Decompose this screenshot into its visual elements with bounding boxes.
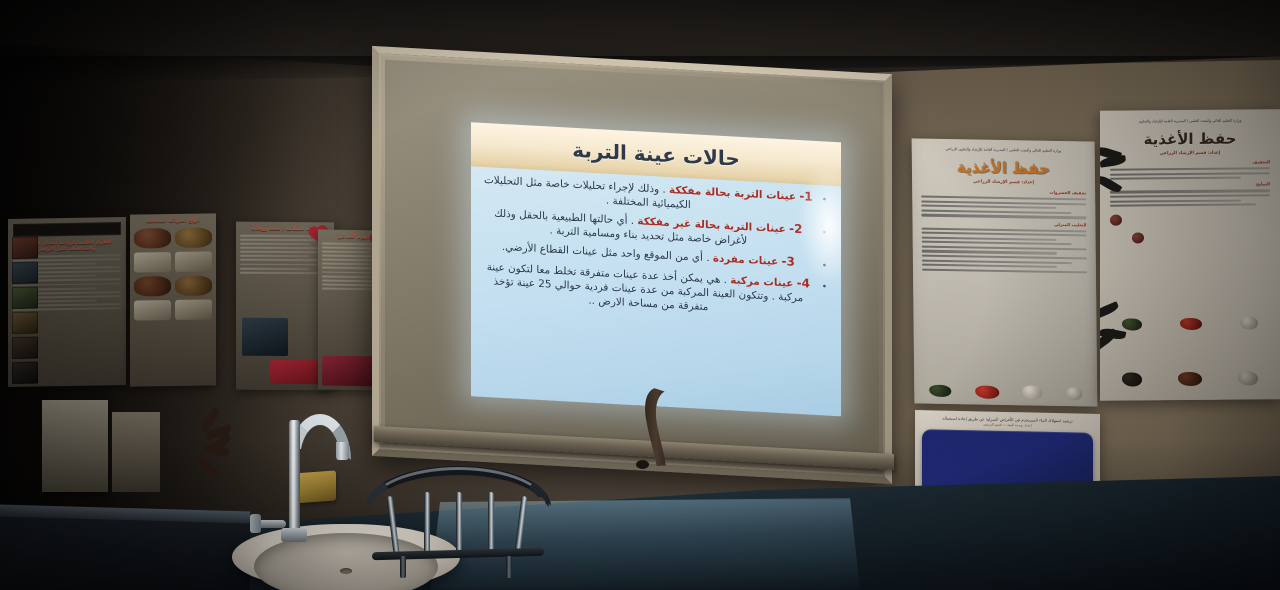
poster-header-band: [13, 222, 121, 237]
poster-food-preservation-2: وزارة التعليم العالي والبحث العلمي / الم…: [1100, 109, 1280, 401]
bullet-number: 3-: [782, 254, 795, 269]
bullet-number: 2-: [789, 222, 802, 237]
poster-thumbnail-column: [12, 237, 38, 387]
poster-section-heading: التعليب المنزلي: [921, 219, 1086, 227]
sink-drain: [340, 568, 352, 574]
poster-body-lines: [1110, 190, 1270, 207]
poster-food-preservation-1: وزارة التعليم العالي والبحث العلمي / الم…: [912, 138, 1098, 406]
olive-berry-icon: [1132, 232, 1144, 243]
faucet-neck[interactable]: [289, 420, 300, 540]
poster-title: أنواع الفواكه المجففة: [134, 217, 212, 224]
poster-body-lines: [921, 196, 1086, 219]
poster-vegetable-photos: [920, 384, 1091, 401]
slide-content: حالات عينة التربة • 1- عينات التربة بحال…: [471, 122, 841, 416]
metal-chair[interactable]: [366, 466, 551, 574]
bullet-highlight: عينات مفردة: [713, 253, 778, 269]
poster-vegetable-photos: [1106, 371, 1274, 386]
bullet-number: 4-: [797, 276, 810, 291]
chair-spindle: [456, 492, 462, 554]
potted-plant: [196, 424, 254, 494]
shelf-box: [42, 400, 108, 492]
poster-vegetable-photos: [1106, 316, 1274, 330]
faucet-valve-knob[interactable]: [250, 514, 261, 533]
shelf-box: [112, 412, 160, 492]
faucet-spout: [336, 442, 349, 460]
classroom-photo-scene: الطرق العلمية لزراعة أشجار الفاكهة والمح…: [0, 0, 1280, 590]
bullet-number: 1-: [799, 189, 812, 204]
hook-tip: [636, 460, 649, 469]
bullet-marker: •: [822, 191, 827, 207]
olive-berry-icon: [1110, 215, 1122, 226]
chair-spindle: [488, 492, 494, 554]
poster-ministry-line: وزارة التعليم العالي والبحث العلمي / الم…: [1110, 118, 1270, 124]
bullet-marker: •: [822, 279, 827, 295]
bullet-rest: . وذلك لإجراء تحليلات خاصة مثل التحليلات…: [484, 174, 691, 211]
poster-tree-planting: الطرق العلمية لزراعة أشجار الفاكهة والمح…: [8, 217, 126, 387]
poster-ministry-line: وزارة التعليم العالي والبحث العلمي / الم…: [921, 147, 1086, 155]
faucet-base: [281, 528, 307, 542]
poster-section-heading: تجفيف الخضروات: [921, 188, 1086, 196]
chair-spindle: [424, 492, 430, 554]
poster-subtitle: إعداد: قسم الإرشاد الزراعي: [921, 179, 1086, 187]
poster-body-lines: [922, 227, 1087, 273]
counter-front-panel: [0, 516, 250, 590]
projection-whiteboard: حالات عينة التربة • 1- عينات التربة بحال…: [372, 46, 892, 484]
bullet-highlight: عينات مركبة: [730, 275, 793, 290]
poster-subtitle: إعداد: قسم الإرشاد الزراعي: [1110, 150, 1270, 156]
projected-slide: حالات عينة التربة • 1- عينات التربة بحال…: [471, 122, 841, 416]
bullet-marker: •: [822, 224, 827, 240]
slide-title: حالات عينة التربة: [572, 138, 740, 171]
poster-photo: [242, 318, 288, 356]
poster-sample-grid: [134, 227, 212, 320]
poster-title: حفظ الأغذية: [1110, 129, 1270, 148]
chair-leg: [400, 556, 406, 578]
poster-body-lines: [1110, 167, 1270, 180]
whiteboard-surface: حالات عينة التربة • 1- عينات التربة بحال…: [385, 60, 879, 471]
chair-leg: [506, 556, 512, 578]
poster-section-heading: التمليح: [1110, 182, 1270, 188]
poster-title: حفظ الأغذية: [921, 158, 1086, 179]
bullet-marker: •: [822, 258, 827, 274]
slide-body: • 1- عينات التربة بحالة مفككة . وذلك لإج…: [475, 168, 835, 411]
poster-section-heading: التجفيف: [1110, 159, 1270, 165]
poster-dried-fruit: أنواع الفواكه المجففة: [130, 213, 216, 386]
